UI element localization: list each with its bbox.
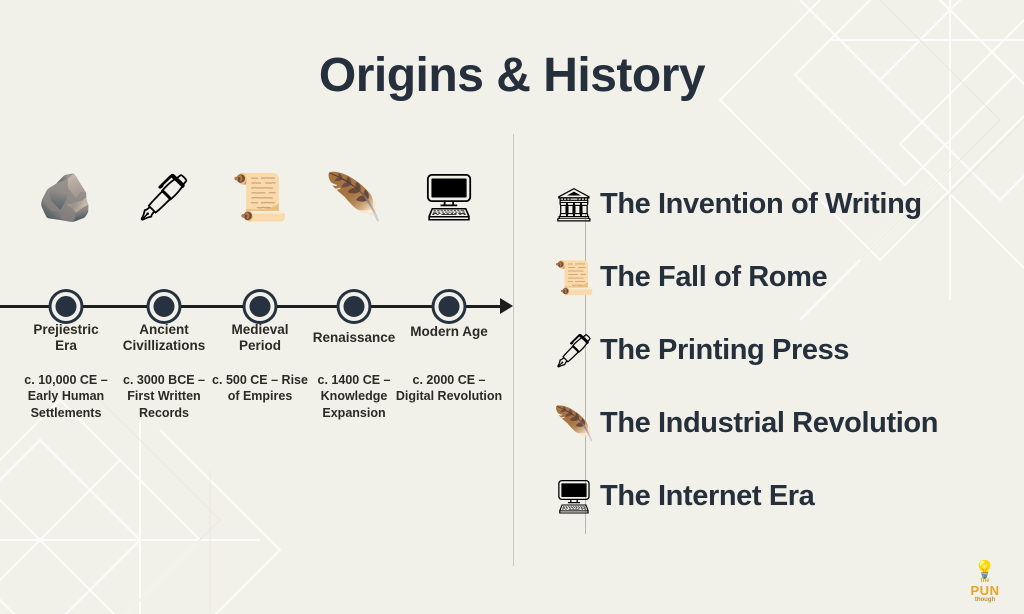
timeline-era-label: Prejiestric Era bbox=[12, 322, 120, 353]
timeline-item[interactable]: 🖋 Ancient Civillizations c. 3000 BCE – F… bbox=[110, 150, 218, 220]
microchip-icon: 🖥 bbox=[395, 150, 503, 220]
microchip-icon: 🖥 bbox=[548, 480, 600, 513]
feather-quill-icon: 🪶 bbox=[300, 150, 408, 220]
scroll-icon: 📜 bbox=[206, 150, 314, 220]
timeline-era-line2: Period bbox=[239, 338, 281, 353]
timeline-item[interactable]: 📜 Medieval Period c. 500 CE – Rise of Em… bbox=[206, 150, 314, 220]
watermark-logo: 💡 the PUN though bbox=[958, 562, 1012, 608]
timeline-era-line1: Prejiestric bbox=[33, 322, 98, 337]
list-item[interactable]: 🖥 The Internet Era bbox=[548, 460, 1024, 533]
timeline-era-line1: Medieval bbox=[231, 322, 288, 337]
list-item[interactable]: 📜 The Fall of Rome bbox=[548, 241, 1024, 314]
ink-bottle-icon: 🖋 bbox=[548, 334, 600, 367]
milestone-list: 🏛 The Invention of Writing 📜 The Fall of… bbox=[548, 168, 1024, 533]
timeline-item[interactable]: 🪨 Prejiestric Era c. 10,000 CE – Early H… bbox=[12, 150, 120, 220]
timeline-node[interactable] bbox=[150, 292, 179, 321]
timeline-description: c. 3000 BCE – First Written Records bbox=[110, 372, 218, 421]
timeline-description: c. 10,000 CE – Early Human Settlements bbox=[12, 372, 120, 421]
feather-quill-icon: 🪶 bbox=[548, 407, 600, 440]
watermark-line3: though bbox=[958, 597, 1012, 604]
timeline-era-label: Renaissance bbox=[300, 330, 408, 346]
milestone-label: The Internet Era bbox=[600, 480, 814, 513]
page-title: Origins & History bbox=[0, 48, 1024, 103]
watermark-line2: PUN bbox=[958, 584, 1012, 597]
milestone-label: The Fall of Rome bbox=[600, 261, 827, 294]
slide-canvas: Origins & History 🪨 Prejiestric Era c. 1… bbox=[0, 0, 1024, 614]
timeline-era-line1: Modern Age bbox=[410, 324, 488, 339]
timeline-era-line2: Era bbox=[55, 338, 77, 353]
stone-monument-icon: 🏛 bbox=[548, 188, 600, 221]
timeline-item[interactable]: 🖥 Modern Age c. 2000 CE – Digital Revolu… bbox=[395, 150, 503, 220]
timeline-era-label: Modern Age bbox=[395, 324, 503, 340]
timeline-era-line2: Civillizations bbox=[123, 338, 206, 353]
lightbulb-icon: 💡 bbox=[958, 562, 1012, 578]
vertical-divider bbox=[513, 134, 514, 566]
timeline-node[interactable] bbox=[52, 292, 81, 321]
timeline-item[interactable]: 🪶 Renaissance c. 1400 CE – Knowledge Exp… bbox=[300, 150, 408, 220]
scroll-icon: 📜 bbox=[548, 261, 600, 294]
timeline-description: c. 1400 CE – Knowledge Expansion bbox=[300, 372, 408, 421]
timeline-description: c. 2000 CE – Digital Revolution bbox=[395, 372, 503, 405]
timeline-era-label: Medieval Period bbox=[206, 322, 314, 353]
timeline-era-line1: Ancient bbox=[139, 322, 189, 337]
timeline-description: c. 500 CE – Rise of Empires bbox=[206, 372, 314, 405]
milestone-label: The Printing Press bbox=[600, 334, 849, 367]
timeline-node[interactable] bbox=[340, 292, 369, 321]
timeline-era-label: Ancient Civillizations bbox=[110, 322, 218, 353]
list-item[interactable]: 🖋 The Printing Press bbox=[548, 314, 1024, 387]
list-item[interactable]: 🏛 The Invention of Writing bbox=[548, 168, 1024, 241]
timeline: 🪨 Prejiestric Era c. 10,000 CE – Early H… bbox=[0, 150, 513, 450]
timeline-era-line1: Renaissance bbox=[313, 330, 396, 345]
list-item[interactable]: 🪶 The Industrial Revolution bbox=[548, 387, 1024, 460]
ink-bottle-icon: 🖋 bbox=[110, 150, 218, 220]
timeline-node[interactable] bbox=[246, 292, 275, 321]
milestone-label: The Industrial Revolution bbox=[600, 407, 938, 440]
stone-tablet-icon: 🪨 bbox=[12, 150, 120, 220]
timeline-arrow-icon bbox=[500, 298, 513, 314]
timeline-node[interactable] bbox=[435, 292, 464, 321]
milestone-label: The Invention of Writing bbox=[600, 188, 922, 221]
